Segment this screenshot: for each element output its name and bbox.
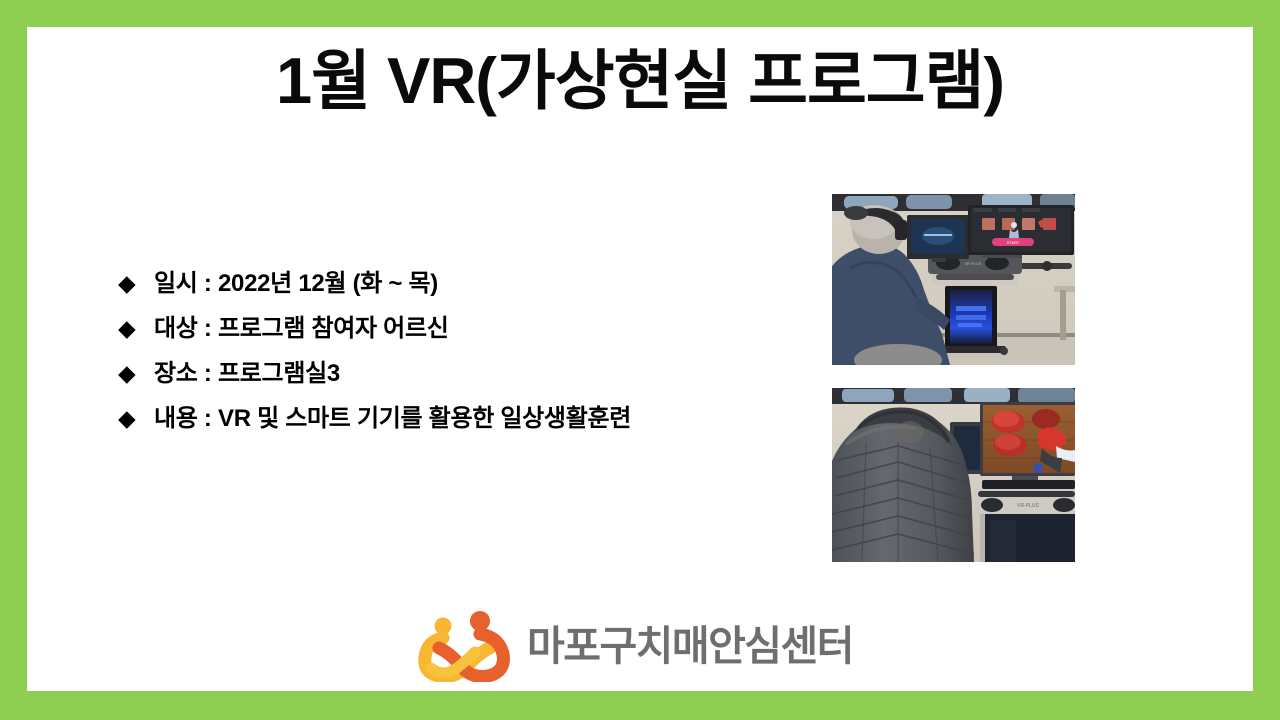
photo-vr-screen-training-graphic: VR-PLUS bbox=[832, 388, 1075, 562]
photo-vr-kiosk-senior-graphic: VR PLUS bbox=[832, 194, 1075, 365]
bullet-text-location: 장소 : 프로그램실3 bbox=[154, 353, 340, 388]
diamond-bullet-icon: ◆ bbox=[118, 272, 154, 295]
bullet-list: ◆ 일시 : 2022년 12월 (화 ~ 목) ◆ 대상 : 프로그램 참여자… bbox=[118, 263, 818, 443]
svg-text:START: START bbox=[1007, 240, 1020, 245]
list-item: ◆ 대상 : 프로그램 참여자 어르신 bbox=[118, 308, 818, 353]
list-item: ◆ 내용 : VR 및 스마트 기기를 활용한 일상생활훈련 bbox=[118, 398, 818, 443]
diamond-bullet-icon: ◆ bbox=[118, 317, 154, 340]
two-figures-infinity-icon bbox=[417, 610, 513, 682]
bullet-text-audience: 대상 : 프로그램 참여자 어르신 bbox=[154, 308, 449, 343]
two-figures-infinity-graphic bbox=[417, 610, 513, 682]
bullet-text-date: 일시 : 2022년 12월 (화 ~ 목) bbox=[154, 263, 438, 298]
bullet-text-content: 내용 : VR 및 스마트 기기를 활용한 일상생활훈련 bbox=[154, 398, 631, 433]
photo-vr-screen-training: VR-PLUS bbox=[832, 388, 1075, 562]
page-title: 1월 VR(가상현실 프로그램) bbox=[27, 45, 1253, 117]
photo-vr-kiosk-senior: VR PLUS bbox=[832, 194, 1075, 365]
svg-text:VR-PLUS: VR-PLUS bbox=[1017, 503, 1039, 509]
list-item: ◆ 장소 : 프로그램실3 bbox=[118, 353, 818, 398]
diamond-bullet-icon: ◆ bbox=[118, 362, 154, 385]
slide-root: 1월 VR(가상현실 프로그램) ◆ 일시 : 2022년 12월 (화 ~ 목… bbox=[0, 0, 1280, 720]
svg-text:VR PLUS: VR PLUS bbox=[964, 261, 981, 266]
diamond-bullet-icon: ◆ bbox=[118, 407, 154, 430]
organization-logo: 마포구치매안심센터 bbox=[417, 610, 853, 682]
logo-text: 마포구치매안심센터 bbox=[527, 626, 853, 667]
slide-canvas: 1월 VR(가상현실 프로그램) ◆ 일시 : 2022년 12월 (화 ~ 목… bbox=[27, 27, 1253, 691]
list-item: ◆ 일시 : 2022년 12월 (화 ~ 목) bbox=[118, 263, 818, 308]
